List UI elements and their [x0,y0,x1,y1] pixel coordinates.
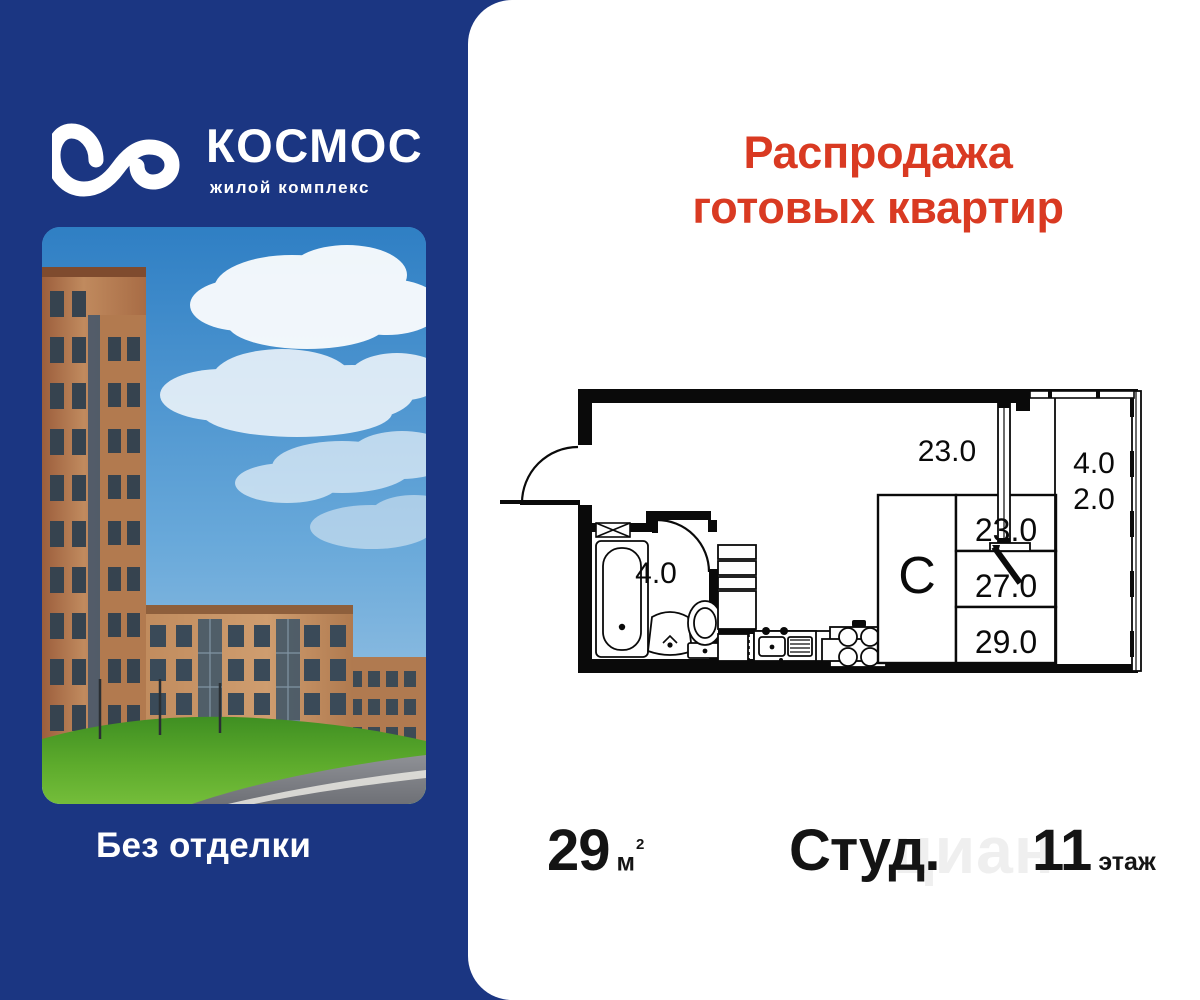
headline-line-2: готовых квартир [648,181,1108,236]
logo-subtitle: жилой комплекс [210,178,370,198]
balcony-coef-label: 2.0 [1073,483,1115,516]
stat-area: 29 м2 [547,822,643,880]
stat-area-value: 29 [547,822,610,880]
stat-area-unit-text: м [617,848,636,876]
bathroom-area-label: 4.0 [635,557,677,590]
table-row-2: 27.0 [975,568,1037,604]
headline-line-1: Распродажа [648,126,1108,181]
floor-plan-drawing: 4.0 23.0 С 23.0 27.0 29.0 4.0 2.0 [500,355,1200,695]
building-photo-image [42,227,426,804]
stat-area-unit: м2 [617,849,644,875]
page-title: Распродажа готовых квартир [648,126,1108,236]
stat-floor: 11 этаж [1032,822,1156,880]
stat-area-superscript: 2 [636,836,644,853]
finish-caption: Без отделки [96,826,311,866]
stat-floor-value: 11 [1032,822,1091,880]
logo: КОСМОС жилой комплекс [52,122,423,198]
logo-title: КОСМОС [206,122,423,169]
building-photo [42,227,426,804]
logo-text: КОСМОС жилой комплекс [206,122,423,198]
stat-rooms: Студ. [789,822,939,880]
stat-floor-unit: этаж [1098,850,1155,875]
plan-type-label: С [898,547,936,605]
brand-column: КОСМОС жилой комплекс [0,0,468,1000]
stats-row: 29 м2 Студ. 11 этаж [500,808,1200,900]
table-row-1: 23.0 [975,512,1037,548]
stat-rooms-value: Студ. [789,822,939,880]
floor-plan: 4.0 23.0 С 23.0 27.0 29.0 4.0 2.0 [500,355,1200,695]
listing-card: КОСМОС жилой комплекс [0,0,1200,1000]
living-area-label: 23.0 [918,435,976,468]
table-row-3: 29.0 [975,624,1037,660]
infinity-icon [52,122,184,198]
balcony-area-label: 4.0 [1073,447,1115,480]
